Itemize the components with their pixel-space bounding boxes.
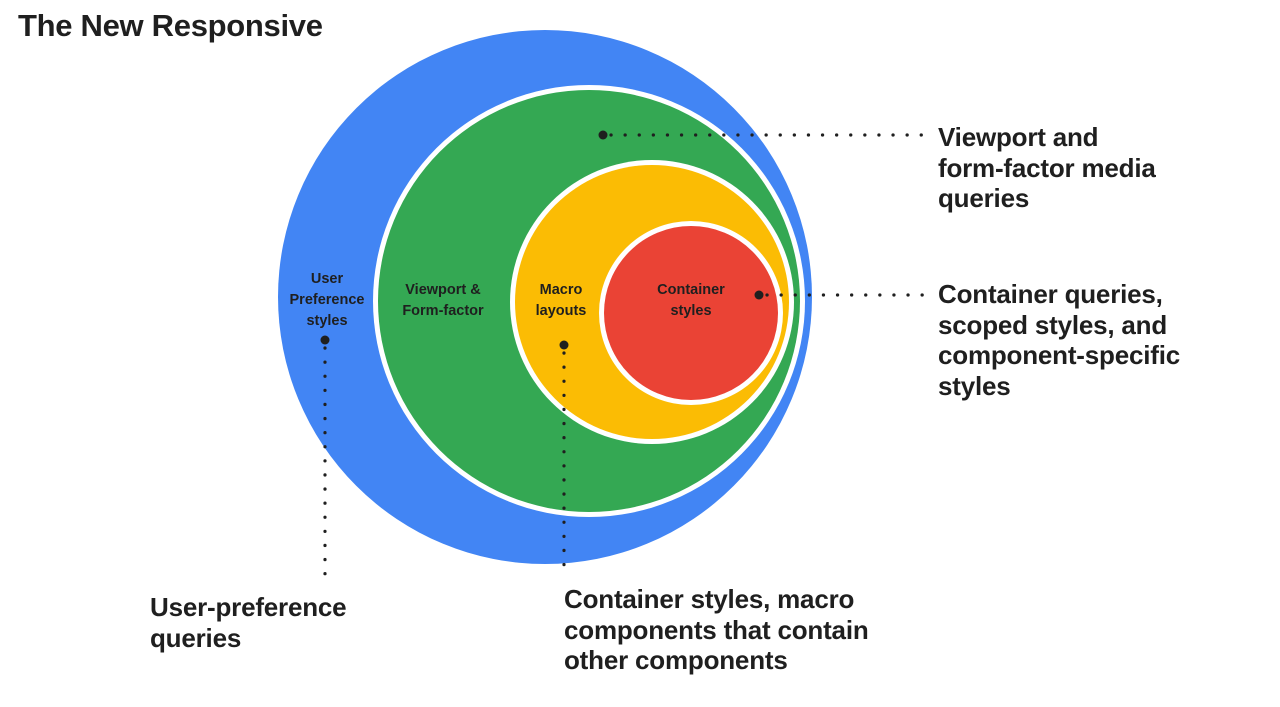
ring-label-line: styles	[306, 313, 347, 329]
callout-line: scoped styles, and	[938, 310, 1276, 341]
callout-user-preference-queries: User-preference queries	[150, 592, 450, 653]
leader-anchor-dot	[755, 291, 764, 300]
callout-line: other components	[564, 645, 994, 676]
ring-label-line: styles	[670, 303, 711, 319]
callout-line: Viewport and	[938, 122, 1268, 153]
callout-line: User-preference	[150, 592, 450, 623]
callout-line: queries	[938, 183, 1268, 214]
ring-label-line: layouts	[536, 303, 587, 319]
leader-anchor-dot	[599, 131, 608, 140]
callout-line: form-factor media	[938, 153, 1268, 184]
callout-line: components that contain	[564, 615, 994, 646]
callout-line: styles	[938, 371, 1276, 402]
leader-anchor-dot	[321, 336, 330, 345]
callout-line: Container styles, macro	[564, 584, 994, 615]
ring-label-line: Preference	[290, 292, 365, 308]
callout-viewport-media-queries: Viewport and form-factor media queries	[938, 122, 1268, 214]
ring-label-line: Form-factor	[402, 303, 484, 319]
ring-label-line: Macro	[540, 282, 583, 298]
callout-container-queries: Container queries, scoped styles, and co…	[938, 279, 1276, 402]
ring-label-line: User	[311, 271, 344, 287]
callout-macro-components: Container styles, macro components that …	[564, 584, 994, 676]
callout-line: Container queries,	[938, 279, 1276, 310]
callout-line: queries	[150, 623, 450, 654]
leader-anchor-dot	[560, 341, 569, 350]
slide-canvas: The New Responsive User Preference style…	[0, 0, 1280, 707]
ring-label-line: Viewport &	[405, 282, 481, 298]
ring-label-line: Container	[657, 282, 725, 298]
callout-line: component-specific	[938, 340, 1276, 371]
